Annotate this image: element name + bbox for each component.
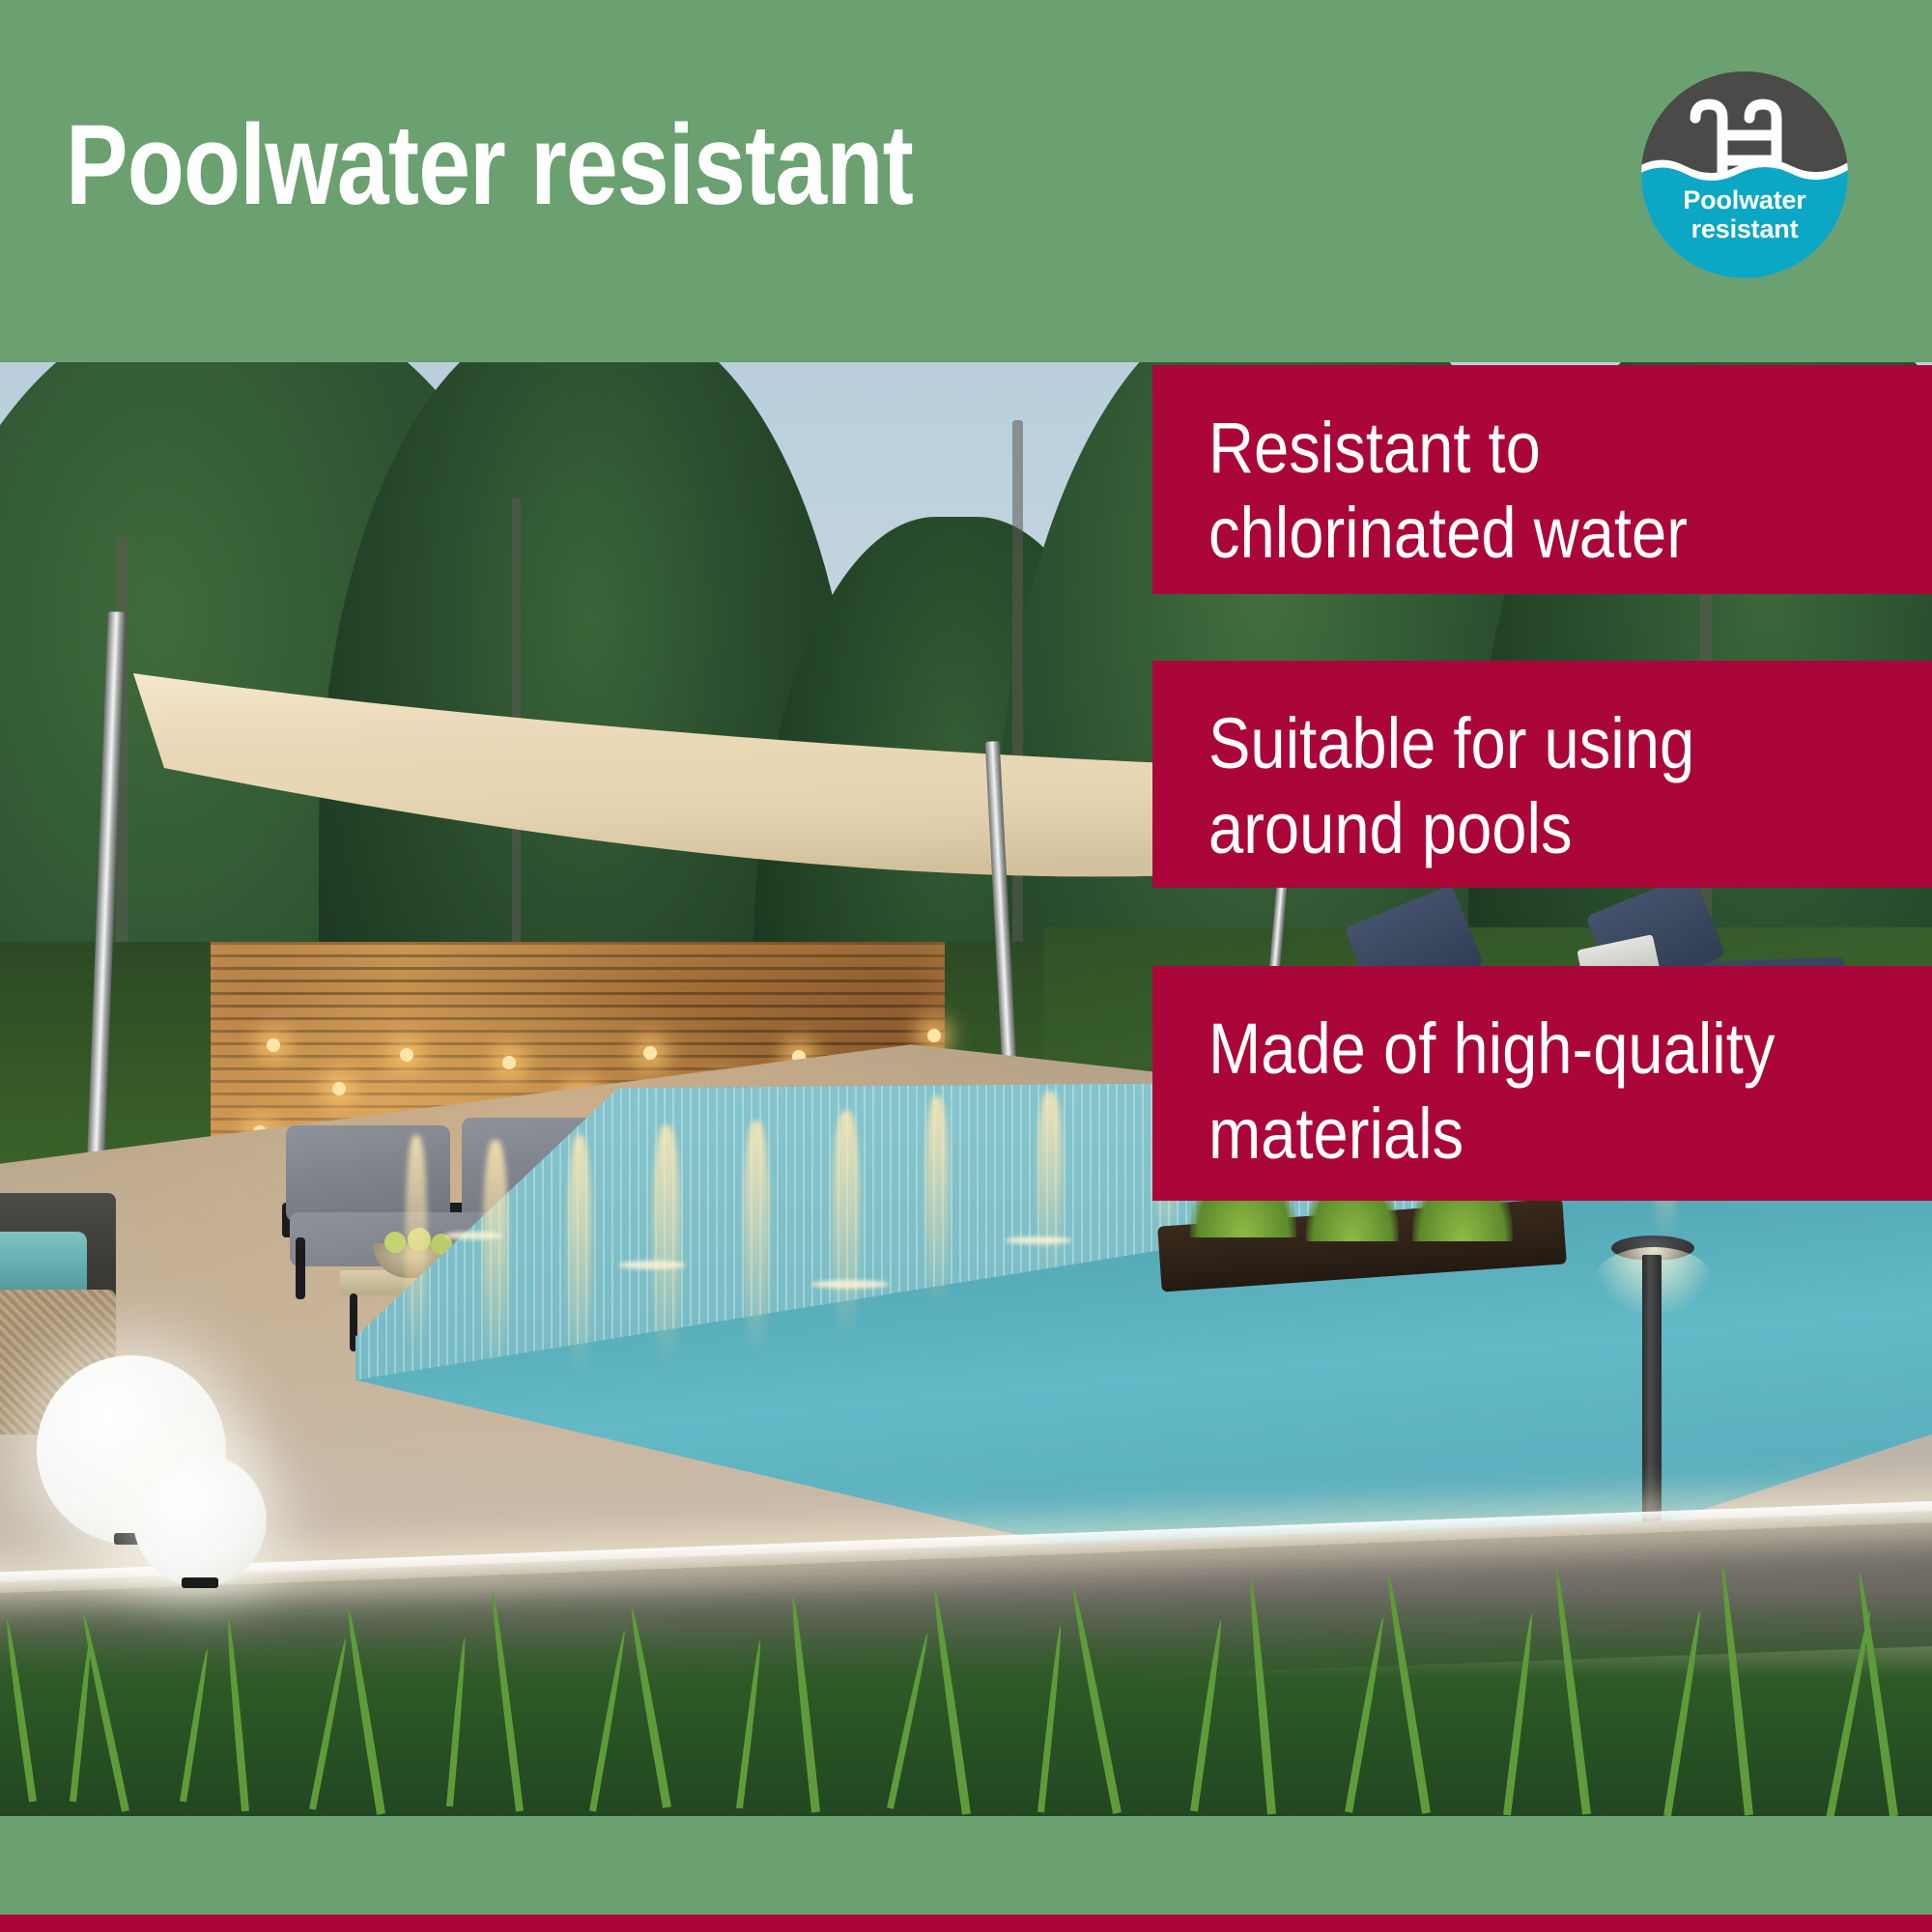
string-light-bulb (502, 1056, 516, 1069)
water-reflection (653, 1125, 680, 1367)
globe-floor-lamp-small (133, 1454, 267, 1587)
water-reflection (833, 1111, 860, 1338)
water-reflection (483, 1140, 508, 1372)
footer-green-band (0, 1816, 1932, 1915)
fruit (384, 1232, 406, 1253)
water-ripple (811, 1280, 889, 1289)
callout-text: Resistant to chlorinated water (1208, 406, 1845, 576)
badge-label: Poolwater resistant (1641, 185, 1848, 243)
poolwater-resistant-infographic: Poolwater resistant Poolwater resistant (0, 0, 1932, 1932)
globe-lamp-base (182, 1577, 218, 1588)
callout-suitable-for-using-around-pools: Suitable for using around pools (1152, 661, 1932, 888)
badge-label-line2: resistant (1641, 214, 1848, 243)
water-ripple (618, 1261, 686, 1269)
string-light-bulb (332, 1082, 346, 1095)
callout-text: Made of high-quality materials (1208, 1007, 1845, 1177)
string-light-bulb (927, 1029, 941, 1042)
callout-text: Suitable for using around pools (1208, 701, 1845, 871)
page-title: Poolwater resistant (66, 108, 913, 222)
badge-label-line1: Poolwater (1641, 185, 1848, 214)
callout-resistant-to-chlorinated-water: Resistant to chlorinated water (1152, 365, 1932, 594)
water-reflection (406, 1135, 427, 1357)
water-reflection (925, 1096, 949, 1309)
water-reflection (744, 1121, 769, 1357)
water-ripple (1005, 1236, 1072, 1244)
footer-red-band (0, 1915, 1932, 1932)
water-reflection (568, 1135, 591, 1377)
water-reflection (1037, 1092, 1063, 1275)
poolwater-resistant-badge: Poolwater resistant (1641, 71, 1848, 278)
string-light-bulb (267, 1038, 280, 1052)
string-light-bulb (400, 1048, 413, 1062)
sofa-leg (296, 1237, 305, 1299)
callout-made-of-high-quality-materials: Made of high-quality materials (1152, 966, 1932, 1201)
string-light-bulb (643, 1046, 657, 1060)
pool-ladder-icon (1641, 71, 1848, 278)
water-ripple (444, 1232, 502, 1239)
